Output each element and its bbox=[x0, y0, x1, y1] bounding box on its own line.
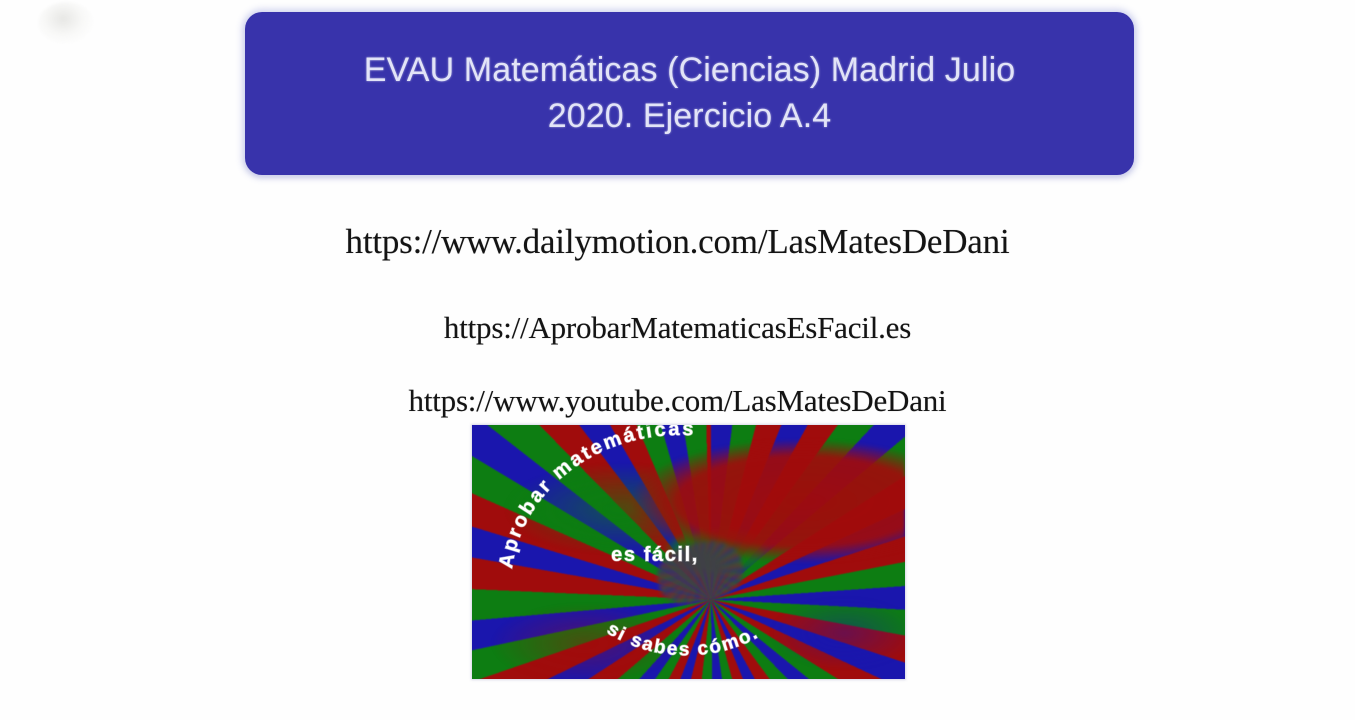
link-dailymotion[interactable]: https://www.dailymotion.com/LasMatesDeDa… bbox=[0, 222, 1355, 262]
logo-line-3-path: si sabes cómo. bbox=[603, 618, 762, 660]
link-youtube[interactable]: https://www.youtube.com/LasMatesDeDani bbox=[0, 383, 1355, 419]
logo-text-svg: Aprobar matemáticas es fácil, si sabes c… bbox=[472, 425, 905, 679]
logo-line-3: si sabes cómo. bbox=[603, 618, 762, 660]
page-title: EVAU Matemáticas (Ciencias) Madrid Julio… bbox=[324, 48, 1055, 140]
logo-text-group: Aprobar matemáticas es fácil, si sabes c… bbox=[472, 425, 905, 679]
slide-canvas: EVAU Matemáticas (Ciencias) Madrid Julio… bbox=[0, 0, 1355, 720]
link-website[interactable]: https://AprobarMatematicasEsFacil.es bbox=[0, 310, 1355, 346]
brand-logo-image: Aprobar matemáticas es fácil, si sabes c… bbox=[472, 425, 905, 679]
logo-line-2: es fácil, bbox=[611, 544, 699, 566]
title-banner: EVAU Matemáticas (Ciencias) Madrid Julio… bbox=[245, 12, 1134, 175]
scan-artifact bbox=[38, 2, 94, 44]
